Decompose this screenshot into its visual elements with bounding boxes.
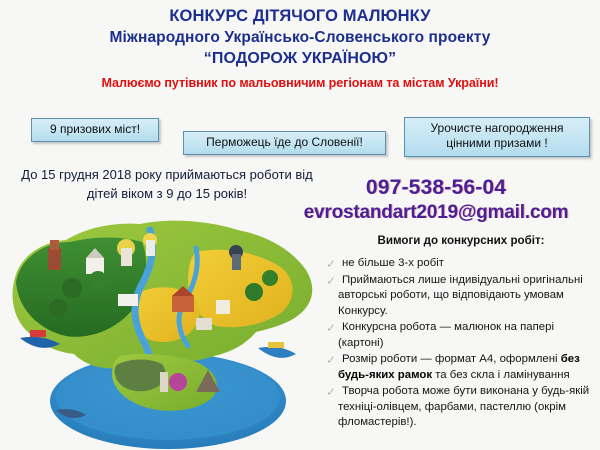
list-item-text: Творча робота може бути виконана у будь-…: [338, 385, 589, 428]
requirements-section: Вимоги до конкурсних робіт: ✓ не більше …: [324, 234, 598, 432]
list-item-text: Конкурсна робота — малюнок на папері (ка…: [338, 321, 554, 349]
map-illustration: [0, 196, 330, 450]
requirements-list: ✓ не більше 3-х робіт ✓ Приймаються лише…: [324, 256, 598, 431]
list-item-text: Приймаються лише індивідуальні оригіналь…: [338, 274, 583, 317]
list-item: ✓ Розмір роботи — формат А4, оформлені б…: [324, 352, 598, 383]
poster-tagline: Малюємо путівник по мальовничим регіонам…: [0, 76, 600, 90]
badge-winner-slovenia: Перможець їде до Словенії!: [183, 131, 386, 155]
map-of-ukraine-svg: [0, 196, 330, 450]
poster-root: КОНКУРС ДІТЯЧОГО МАЛЮНКУ Міжнародного Ук…: [0, 0, 600, 450]
badge-prize-cities: 9 призових міст!: [31, 118, 159, 142]
page-title-line-1: КОНКУРС ДІТЯЧОГО МАЛЮНКУ: [0, 6, 600, 28]
page-title-line-2: Міжнародного Українсько-Словенського про…: [0, 28, 600, 48]
list-item: ✓ Творча робота може бути виконана у буд…: [324, 384, 598, 431]
poster-header: КОНКУРС ДІТЯЧОГО МАЛЮНКУ Міжнародного Ук…: [0, 6, 600, 90]
list-item: ✓ Конкурсна робота — малюнок на папері (…: [324, 320, 598, 351]
list-item-text-post: та без скла і ламінування: [432, 369, 570, 381]
requirements-heading: Вимоги до конкурсних робіт:: [324, 234, 598, 247]
list-item-text-pre: Розмір роботи — формат А4, оформлені: [342, 353, 561, 365]
list-item-text: не більше 3-х робіт: [342, 257, 444, 269]
list-item: ✓ Приймаються лише індивідуальні оригіна…: [324, 273, 598, 320]
page-title-line-3: “ПОДОРОЖ УКРАЇНОЮ”: [0, 48, 600, 69]
badge-award-ceremony: Урочисте нагородження цінними призами !: [404, 117, 590, 157]
list-item: ✓ не більше 3-х робіт: [324, 256, 598, 272]
